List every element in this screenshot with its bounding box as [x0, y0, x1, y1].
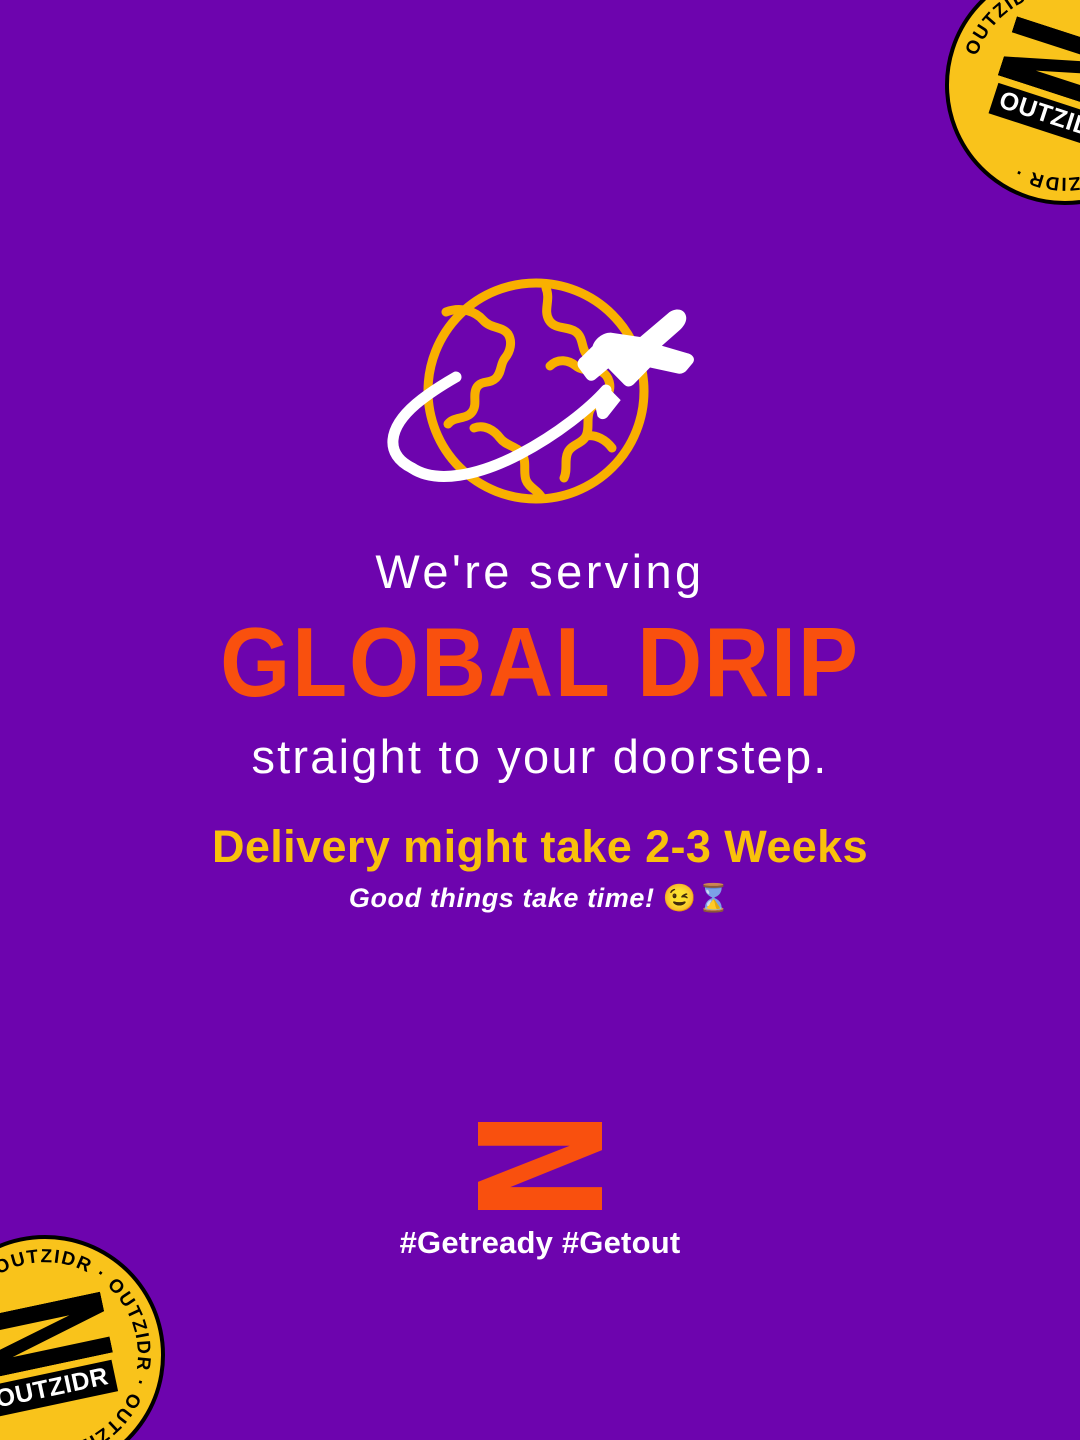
headline-main: GLOBAL DRIP [43, 613, 1037, 711]
delivery-subtext-label: Good things take time! [349, 883, 655, 913]
headline-copy-block: We're serving GLOBAL DRIP straight to yo… [0, 548, 1080, 780]
hourglass-emoji: ⌛ [697, 883, 731, 913]
outzidr-badge-top-right: OUTZIDR · OUTZIDR · OUTZIDR · OUTZIDR · … [914, 0, 1080, 236]
globe-airplane-illustration [350, 268, 722, 520]
delivery-subtext: Good things take time! 😉⌛ [0, 884, 1080, 914]
headline-kicker: We're serving [0, 548, 1080, 595]
headline-tail: straight to your doorstep. [0, 733, 1080, 780]
promo-poster: We're serving GLOBAL DRIP straight to yo… [0, 0, 1080, 1440]
wink-face-emoji: 😉 [663, 883, 697, 913]
delivery-headline: Delivery might take 2-3 Weeks [0, 823, 1080, 870]
footer-brand-block: #Getready #Getout [0, 1122, 1080, 1258]
globe-airplane-svg [350, 268, 722, 520]
outzidr-z-logo-icon [478, 1122, 602, 1210]
delivery-notice-block: Delivery might take 2-3 Weeks Good thing… [0, 823, 1080, 914]
hashtags-label: #Getready #Getout [400, 1227, 681, 1258]
